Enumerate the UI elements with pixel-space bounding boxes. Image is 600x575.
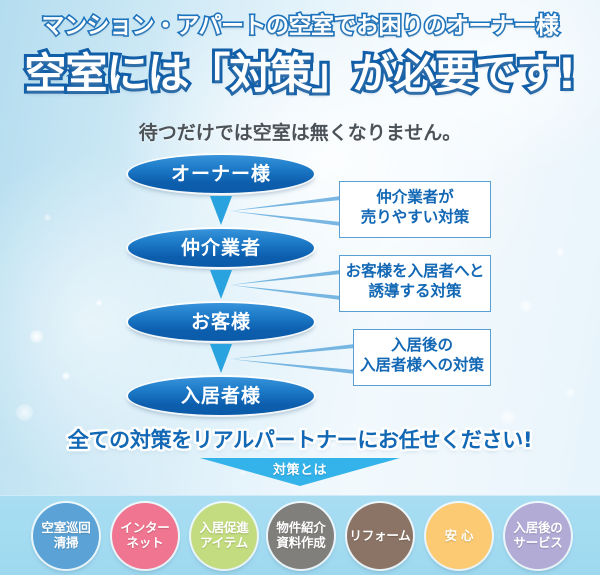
callout-connector bbox=[228, 344, 357, 374]
badge-line-2: 清掃 bbox=[41, 536, 90, 551]
badge-line-1: 安 心 bbox=[445, 529, 474, 544]
callout-connector bbox=[228, 196, 343, 226]
service-badge-reform[interactable]: リフォーム bbox=[347, 503, 413, 569]
callout-line-1: 入居後の bbox=[354, 336, 490, 356]
flow-arrow-down-icon bbox=[208, 196, 234, 225]
badge-line-2: サービス bbox=[513, 536, 562, 551]
section-banner-label: 対策とは bbox=[200, 459, 400, 478]
callout-box-customer: お客様を入居者へと 誘導する対策 bbox=[339, 255, 491, 312]
badge-line-1: 物件紹介 bbox=[276, 521, 325, 536]
flow-step-customer: お客様 bbox=[128, 303, 314, 341]
badge-line-1: 入居後の bbox=[513, 521, 562, 536]
badge-line-2: ネット bbox=[120, 536, 169, 551]
flow-step-agency: 仲介業者 bbox=[128, 229, 314, 267]
subtitle-text: 待つだけでは空室は無くなりません。 bbox=[0, 118, 600, 145]
badge-line-2: アイテム bbox=[199, 536, 248, 551]
flow-step-owner: オーナー様 bbox=[128, 155, 314, 193]
callout-line-1: 仲介業者が bbox=[340, 188, 490, 208]
cta-text: 全ての対策をリアルパートナーにお任せください! bbox=[0, 424, 600, 454]
bokeh-particle bbox=[566, 388, 575, 397]
callout-connector bbox=[228, 270, 343, 300]
bokeh-particle bbox=[520, 300, 532, 312]
infographic-page: マンション・アパートの空室でお困りのオーナー様 空室には「対策」が必要です! 待… bbox=[0, 0, 600, 575]
header-line-1: マンション・アパートの空室でお困りのオーナー様 bbox=[0, 6, 600, 40]
service-badge-aftercare[interactable]: 入居後の サービス bbox=[505, 503, 571, 569]
service-badge-security[interactable]: 安 心 bbox=[426, 503, 492, 569]
bokeh-particle bbox=[556, 248, 564, 256]
bokeh-particle bbox=[500, 410, 515, 425]
callout-line-2: 入居者様への対策 bbox=[354, 356, 490, 376]
callout-line-1: お客様を入居者へと bbox=[340, 262, 490, 282]
bokeh-particle bbox=[44, 214, 51, 221]
bokeh-particle bbox=[96, 300, 102, 306]
service-badge-internet[interactable]: インター ネット bbox=[112, 503, 178, 569]
callout-line-2: 売りやすい対策 bbox=[340, 208, 490, 228]
flow-step-tenant: 入居者様 bbox=[128, 377, 314, 415]
callout-line-2: 誘導する対策 bbox=[340, 282, 490, 302]
header-banner: マンション・アパートの空室でお困りのオーナー様 空室には「対策」が必要です! bbox=[0, 0, 600, 112]
flow-arrow-down-icon bbox=[208, 344, 234, 373]
callout-box-agency: 仲介業者が 売りやすい対策 bbox=[339, 181, 491, 238]
bokeh-particle bbox=[62, 372, 70, 380]
badge-line-1: インター bbox=[120, 521, 169, 536]
callout-box-tenant: 入居後の 入居者様への対策 bbox=[353, 329, 491, 386]
page-title: 空室には「対策」が必要です! bbox=[0, 40, 600, 101]
service-badge-cleaning[interactable]: 空室巡回 清掃 bbox=[33, 503, 99, 569]
bokeh-particle bbox=[16, 404, 33, 421]
flow-arrow-down-icon bbox=[208, 270, 234, 299]
service-badge-items[interactable]: 入居促進 アイテム bbox=[191, 503, 257, 569]
badge-line-1: 空室巡回 bbox=[41, 521, 90, 536]
bokeh-particle bbox=[30, 330, 43, 343]
badge-line-1: 入居促進 bbox=[199, 521, 248, 536]
badge-line-2: 資料作成 bbox=[276, 536, 325, 551]
badge-line-1: リフォーム bbox=[349, 529, 410, 544]
service-badge-materials[interactable]: 物件紹介 資料作成 bbox=[268, 503, 334, 569]
